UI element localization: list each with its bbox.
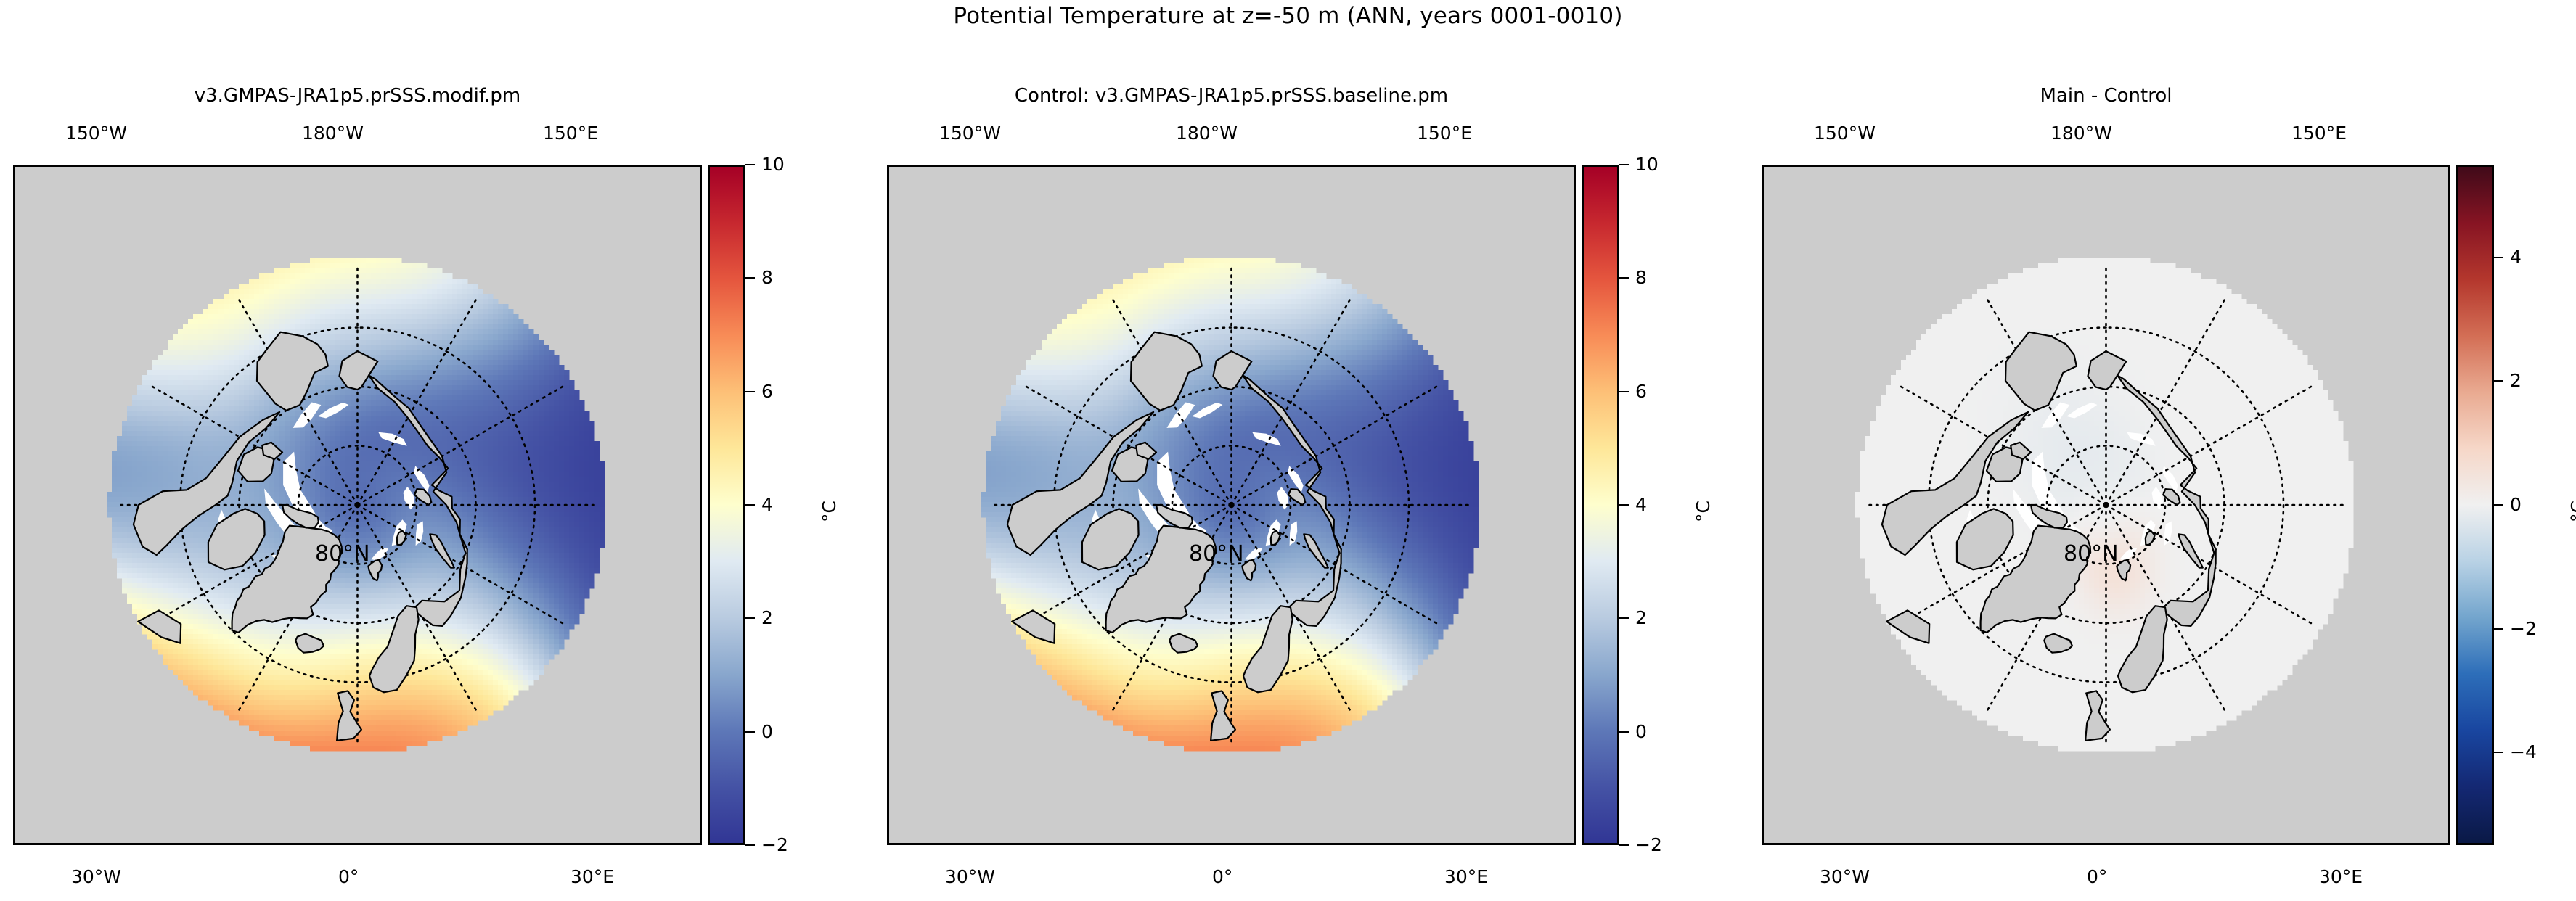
- lon-label-top-180w: 180°W: [302, 123, 364, 144]
- colorbar-tick-label: −2: [1635, 834, 1662, 857]
- colorbar-tick-label: −4: [2510, 741, 2537, 764]
- colorbar-tick-label: 0: [2510, 493, 2522, 517]
- colorbar-tick-mark: [745, 844, 755, 846]
- colorbar-tick-mark: [745, 731, 755, 733]
- lon-label-top-150e: 150°E: [543, 123, 598, 144]
- colorbar-tick-mark: [745, 164, 755, 165]
- lon-label-bottom-0: 0°: [338, 866, 359, 887]
- map-canvas-main: 80°N: [15, 167, 700, 843]
- lon-label-top-180w: 180°W: [2050, 123, 2112, 144]
- map-axes-main[interactable]: 80°N: [13, 165, 702, 845]
- colorbar-tick-mark: [2494, 504, 2503, 506]
- graticule-label-80n: 80°N: [2064, 541, 2119, 567]
- colorbar-tick-label: 2: [761, 606, 773, 630]
- map-axes-control[interactable]: 80°N: [887, 165, 1576, 845]
- lon-label-top-150e: 150°E: [2291, 123, 2347, 144]
- colorbar-tick-mark: [2494, 257, 2503, 258]
- panel-control-title: Control: v3.GMPAS-JRA1p5.prSSS.baseline.…: [887, 85, 1576, 107]
- colorbar-tick-mark: [745, 617, 755, 619]
- panel-main-title: v3.GMPAS-JRA1p5.prSSS.modif.pm: [13, 85, 702, 107]
- colorbar-tick-mark: [1619, 617, 1629, 619]
- colorbar-tick-mark: [1619, 504, 1629, 506]
- colorbar-tick-mark: [1619, 277, 1629, 279]
- lon-label-top-150e: 150°E: [1417, 123, 1472, 144]
- lon-label-bottom-30e: 30°E: [571, 866, 614, 887]
- colorbar-difference-unit: °C: [2567, 501, 2576, 522]
- graticule-label-80n: 80°N: [1189, 541, 1244, 567]
- map-axes-difference[interactable]: 80°N: [1762, 165, 2450, 845]
- lon-label-top-150w: 150°W: [65, 123, 127, 144]
- colorbar-tick-label: 10: [761, 153, 785, 176]
- colorbar-tick-label: 0: [1635, 720, 1647, 744]
- graticule-label-80n: 80°N: [315, 541, 370, 567]
- lon-label-bottom-30w: 30°W: [1820, 866, 1870, 887]
- lon-label-bottom-30e: 30°E: [1444, 866, 1488, 887]
- lon-label-top-150w: 150°W: [939, 123, 1001, 144]
- colorbar-tick-mark: [1619, 731, 1629, 733]
- colorbar-tick-mark: [1619, 391, 1629, 392]
- map-canvas-difference: 80°N: [1764, 167, 2448, 843]
- colorbar-main-unit: °C: [819, 501, 840, 522]
- colorbar-tick-label: 4: [2510, 246, 2522, 269]
- colorbar-difference-ticks: −4−2024: [2494, 165, 2576, 845]
- lon-label-bottom-30e: 30°E: [2319, 866, 2363, 887]
- colorbar-tick-label: 10: [1635, 153, 1659, 176]
- colorbar-tick-label: −2: [2510, 617, 2537, 641]
- figure-suptitle: Potential Temperature at z=-50 m (ANN, y…: [0, 3, 2576, 29]
- colorbar-tick-label: 2: [1635, 606, 1647, 630]
- colorbar-tick-label: 6: [761, 380, 773, 403]
- colorbar-tick-label: 4: [761, 493, 773, 517]
- lon-label-bottom-30w: 30°W: [71, 866, 121, 887]
- panel-control: Control: v3.GMPAS-JRA1p5.prSSS.baseline.…: [887, 165, 1576, 845]
- colorbar-main[interactable]: [708, 165, 745, 845]
- colorbar-tick-mark: [745, 277, 755, 279]
- figure-canvas: Potential Temperature at z=-50 m (ANN, y…: [0, 0, 2576, 901]
- lon-label-top-150w: 150°W: [1814, 123, 1876, 144]
- colorbar-tick-label: 6: [1635, 380, 1647, 403]
- lon-label-top-180w: 180°W: [1176, 123, 1238, 144]
- colorbar-tick-label: 8: [1635, 266, 1647, 289]
- colorbar-tick-mark: [745, 391, 755, 392]
- lon-label-bottom-0: 0°: [2087, 866, 2107, 887]
- lon-label-bottom-30w: 30°W: [945, 866, 995, 887]
- colorbar-control[interactable]: [1582, 165, 1619, 845]
- colorbar-tick-mark: [745, 504, 755, 506]
- lon-label-bottom-0: 0°: [1212, 866, 1232, 887]
- panel-difference: Main - Control 150°W 180°W 150°E 30°W 0°…: [1762, 165, 2450, 845]
- colorbar-difference[interactable]: [2456, 165, 2494, 845]
- colorbar-tick-label: 8: [761, 266, 773, 289]
- colorbar-tick-label: 2: [2510, 369, 2522, 392]
- colorbar-tick-mark: [2494, 628, 2503, 630]
- colorbar-tick-mark: [2494, 752, 2503, 753]
- colorbar-tick-mark: [1619, 844, 1629, 846]
- colorbar-tick-label: −2: [761, 834, 788, 857]
- colorbar-tick-mark: [2494, 380, 2503, 382]
- map-canvas-control: 80°N: [889, 167, 1574, 843]
- colorbar-tick-label: 4: [1635, 493, 1647, 517]
- colorbar-tick-mark: [1619, 164, 1629, 165]
- panel-main: v3.GMPAS-JRA1p5.prSSS.modif.pm 150°W 180…: [13, 165, 702, 845]
- panel-difference-title: Main - Control: [1762, 85, 2450, 107]
- colorbar-control-unit: °C: [1693, 501, 1714, 522]
- colorbar-tick-label: 0: [761, 720, 773, 744]
